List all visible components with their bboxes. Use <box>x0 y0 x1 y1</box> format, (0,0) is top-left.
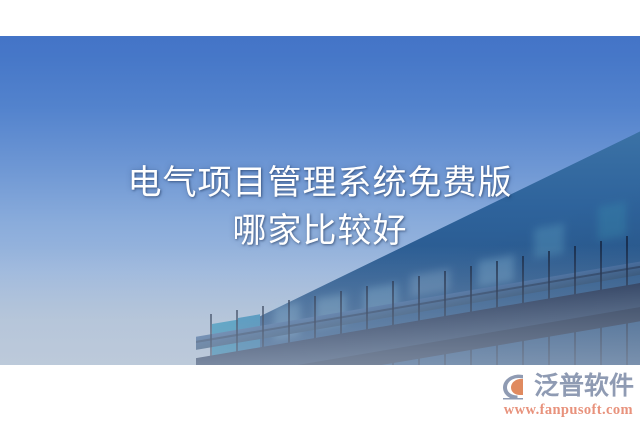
logo-url[interactable]: www.fanpusoft.com <box>504 402 633 419</box>
fanpu-swoosh-icon <box>501 372 531 401</box>
logo-row: 泛普软件 <box>501 372 634 401</box>
page-title: 电气项目管理系统免费版 哪家比较好 <box>0 160 640 256</box>
brand-logo[interactable]: 泛普软件 www.fanpusoft.com <box>501 372 634 419</box>
logo-wordmark: 泛普软件 <box>534 373 634 400</box>
promotional-banner: 电气项目管理系统免费版 哪家比较好 泛普软件 www.fanpusoft.com <box>0 0 640 427</box>
title-line-2: 哪家比较好 <box>0 208 640 256</box>
title-line-1: 电气项目管理系统免费版 <box>0 160 640 208</box>
